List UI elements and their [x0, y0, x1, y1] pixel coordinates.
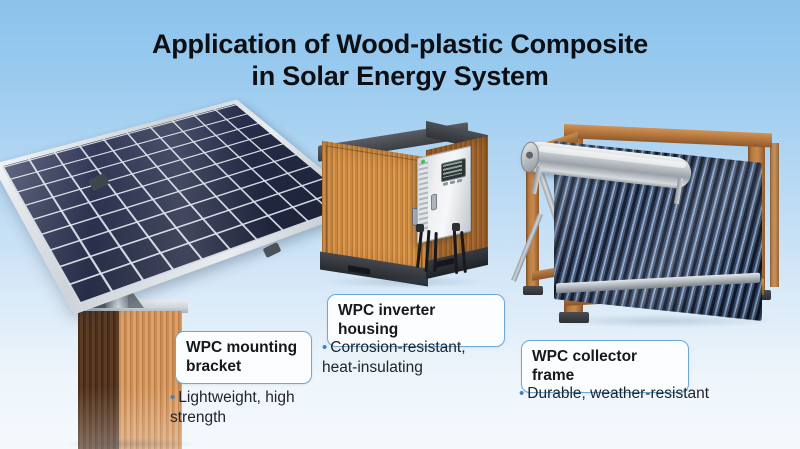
inverter-latch[interactable]: [431, 193, 437, 210]
callout-label-text: WPC inverter housing: [338, 302, 435, 338]
frame-post-far-right: [770, 143, 779, 287]
callout-bullet-text: Corrosion-resistant, heat-insulating: [322, 339, 466, 376]
title-line-1: Application of Wood-plastic Composite: [152, 29, 648, 59]
cable-gland-1: [416, 224, 424, 232]
pv-module: [0, 99, 368, 314]
wpc-post: [78, 294, 182, 449]
cable-gland-2: [452, 223, 460, 231]
inverter-heat-fins: [419, 161, 428, 233]
illustration-inverter-cabinet: [318, 126, 496, 291]
panel-ground-shadow: [64, 438, 198, 449]
callout-label-text: WPC mounting bracket: [186, 339, 297, 375]
callout-bullet-text: Durable, weather-resistant: [527, 385, 709, 402]
cable-3: [433, 232, 437, 272]
collector-ground-shadow: [548, 314, 778, 328]
cable-5: [460, 231, 467, 273]
callout-bullet-collector-frame: •Durable, weather-resistant: [519, 384, 769, 404]
frame-top-beam-front: [564, 124, 772, 147]
callout-bullet-inverter-housing: •Corrosion-resistant, heat-insulating: [322, 338, 502, 378]
cable-4: [453, 230, 458, 274]
callout-label-mounting-bracket[interactable]: WPC mounting bracket: [175, 331, 312, 384]
bullet-dot-icon: •: [322, 339, 327, 356]
callout-bullet-mounting-bracket: •Lightweight, high strength: [170, 388, 330, 428]
illustration-solar-collector: [508, 118, 796, 330]
cabinet-ground-shadow: [324, 276, 484, 288]
callout-bullet-text: Lightweight, high strength: [170, 389, 295, 426]
bullet-dot-icon: •: [519, 385, 524, 402]
infographic-canvas: Application of Wood-plastic Composite in…: [0, 0, 800, 449]
callout-label-text: WPC collector frame: [532, 348, 637, 384]
bullet-dot-icon: •: [170, 389, 175, 406]
cable-1: [416, 230, 423, 268]
post-shading: [78, 311, 182, 449]
inverter-unit: [417, 146, 469, 242]
cable-2: [425, 230, 431, 272]
frame-foot-back-left: [523, 286, 543, 295]
